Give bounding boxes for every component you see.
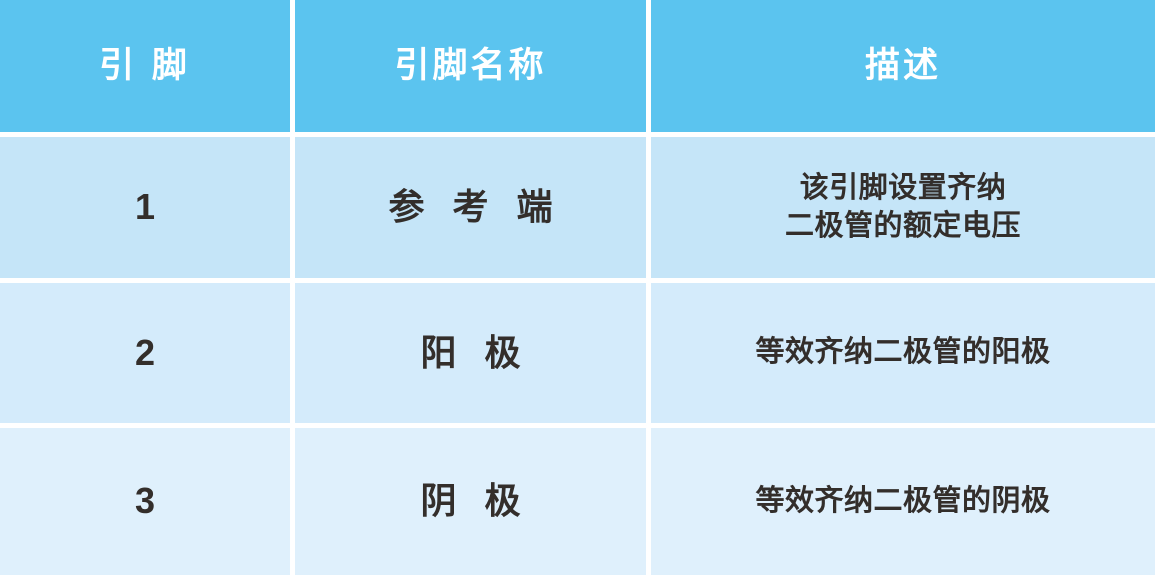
description-line: 该引脚设置齐纳 [651, 170, 1155, 208]
column-header-pin: 引 脚 [0, 0, 295, 137]
table-body: 1 参 考 端 该引脚设置齐纳 二极管的额定电压 2 阳 极 等效齐纳二极管的阳… [0, 137, 1155, 575]
cell-pin-number: 3 [0, 428, 295, 575]
pin-description-table: 引 脚 引脚名称 描述 1 参 考 端 该引脚设置齐纳 二极管的额定电压 2 阳… [0, 0, 1155, 575]
table-header: 引 脚 引脚名称 描述 [0, 0, 1155, 137]
cell-pin-name: 参 考 端 [295, 137, 651, 283]
cell-pin-number: 1 [0, 137, 295, 283]
description-line: 等效齐纳二极管的阴极 [651, 483, 1155, 521]
column-header-description: 描述 [651, 0, 1155, 137]
cell-description: 等效齐纳二极管的阳极 [651, 283, 1155, 428]
table-row: 2 阳 极 等效齐纳二极管的阳极 [0, 283, 1155, 428]
cell-description: 等效齐纳二极管的阴极 [651, 428, 1155, 575]
cell-pin-number: 2 [0, 283, 295, 428]
table-row: 3 阴 极 等效齐纳二极管的阴极 [0, 428, 1155, 575]
header-row: 引 脚 引脚名称 描述 [0, 0, 1155, 137]
description-line: 等效齐纳二极管的阳极 [651, 334, 1155, 372]
cell-description: 该引脚设置齐纳 二极管的额定电压 [651, 137, 1155, 283]
cell-pin-name: 阳 极 [295, 283, 651, 428]
cell-pin-name: 阴 极 [295, 428, 651, 575]
table-row: 1 参 考 端 该引脚设置齐纳 二极管的额定电压 [0, 137, 1155, 283]
column-header-pin-name: 引脚名称 [295, 0, 651, 137]
description-line: 二极管的额定电压 [651, 208, 1155, 246]
